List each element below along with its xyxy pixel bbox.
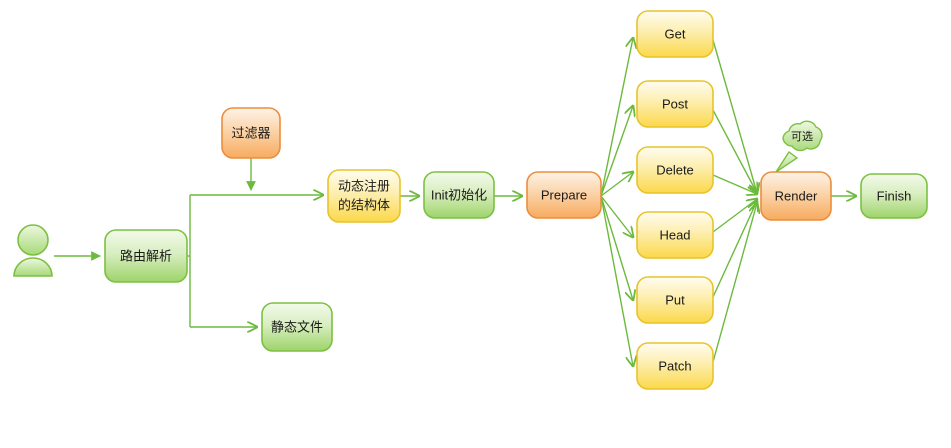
node-finish-label: Finish xyxy=(877,188,912,203)
edge-prepare-patch xyxy=(601,196,633,366)
callout-tail xyxy=(776,152,797,172)
node-route-parse[interactable]: 路由解析 xyxy=(105,230,187,282)
edge-prepare-get xyxy=(601,38,633,196)
node-init[interactable]: Init初始化 xyxy=(424,172,494,218)
actor-body-icon xyxy=(14,258,52,276)
node-head[interactable]: Head xyxy=(637,212,713,258)
node-filter-label: 过滤器 xyxy=(231,125,270,140)
node-patch[interactable]: Patch xyxy=(637,343,713,389)
node-get[interactable]: Get xyxy=(637,11,713,57)
node-init-label: Init初始化 xyxy=(431,187,487,202)
actor-head-icon xyxy=(18,225,48,255)
node-get-label: Get xyxy=(665,26,686,41)
user-actor[interactable] xyxy=(14,225,52,276)
node-put-label: Put xyxy=(665,292,685,307)
node-filter[interactable]: 过滤器 xyxy=(222,108,280,158)
callout-optional[interactable]: 可选 xyxy=(776,121,822,172)
node-put[interactable]: Put xyxy=(637,277,713,323)
edge-prepare-head xyxy=(601,196,633,237)
node-post[interactable]: Post xyxy=(637,81,713,127)
node-render[interactable]: Render xyxy=(761,172,831,220)
node-patch-label: Patch xyxy=(658,358,691,373)
node-delete[interactable]: Delete xyxy=(637,147,713,193)
node-dynamic-struct-label-line2: 的结构体 xyxy=(338,197,390,212)
node-prepare[interactable]: Prepare xyxy=(527,172,601,218)
node-delete-label: Delete xyxy=(656,162,694,177)
node-static-file[interactable]: 静态文件 xyxy=(262,303,332,351)
node-route-parse-label: 路由解析 xyxy=(120,248,172,263)
flowchart-canvas: 路由解析 过滤器 静态文件 动态注册 的结构体 Init初始化 Prepare … xyxy=(0,0,951,448)
edge-get-render xyxy=(713,40,757,193)
edge-post-render xyxy=(713,110,757,193)
edge-delete-render xyxy=(713,175,757,194)
node-dynamic-struct[interactable]: 动态注册 的结构体 xyxy=(328,170,400,222)
node-prepare-label: Prepare xyxy=(541,187,587,202)
node-dynamic-struct-label-line1: 动态注册 xyxy=(338,178,390,193)
node-head-label: Head xyxy=(659,227,690,242)
node-post-label: Post xyxy=(662,96,688,111)
callout-optional-label: 可选 xyxy=(791,130,813,143)
flowchart-svg: 路由解析 过滤器 静态文件 动态注册 的结构体 Init初始化 Prepare … xyxy=(0,0,951,448)
node-finish[interactable]: Finish xyxy=(861,174,927,218)
node-static-file-label: 静态文件 xyxy=(271,319,323,334)
node-render-label: Render xyxy=(775,188,818,203)
